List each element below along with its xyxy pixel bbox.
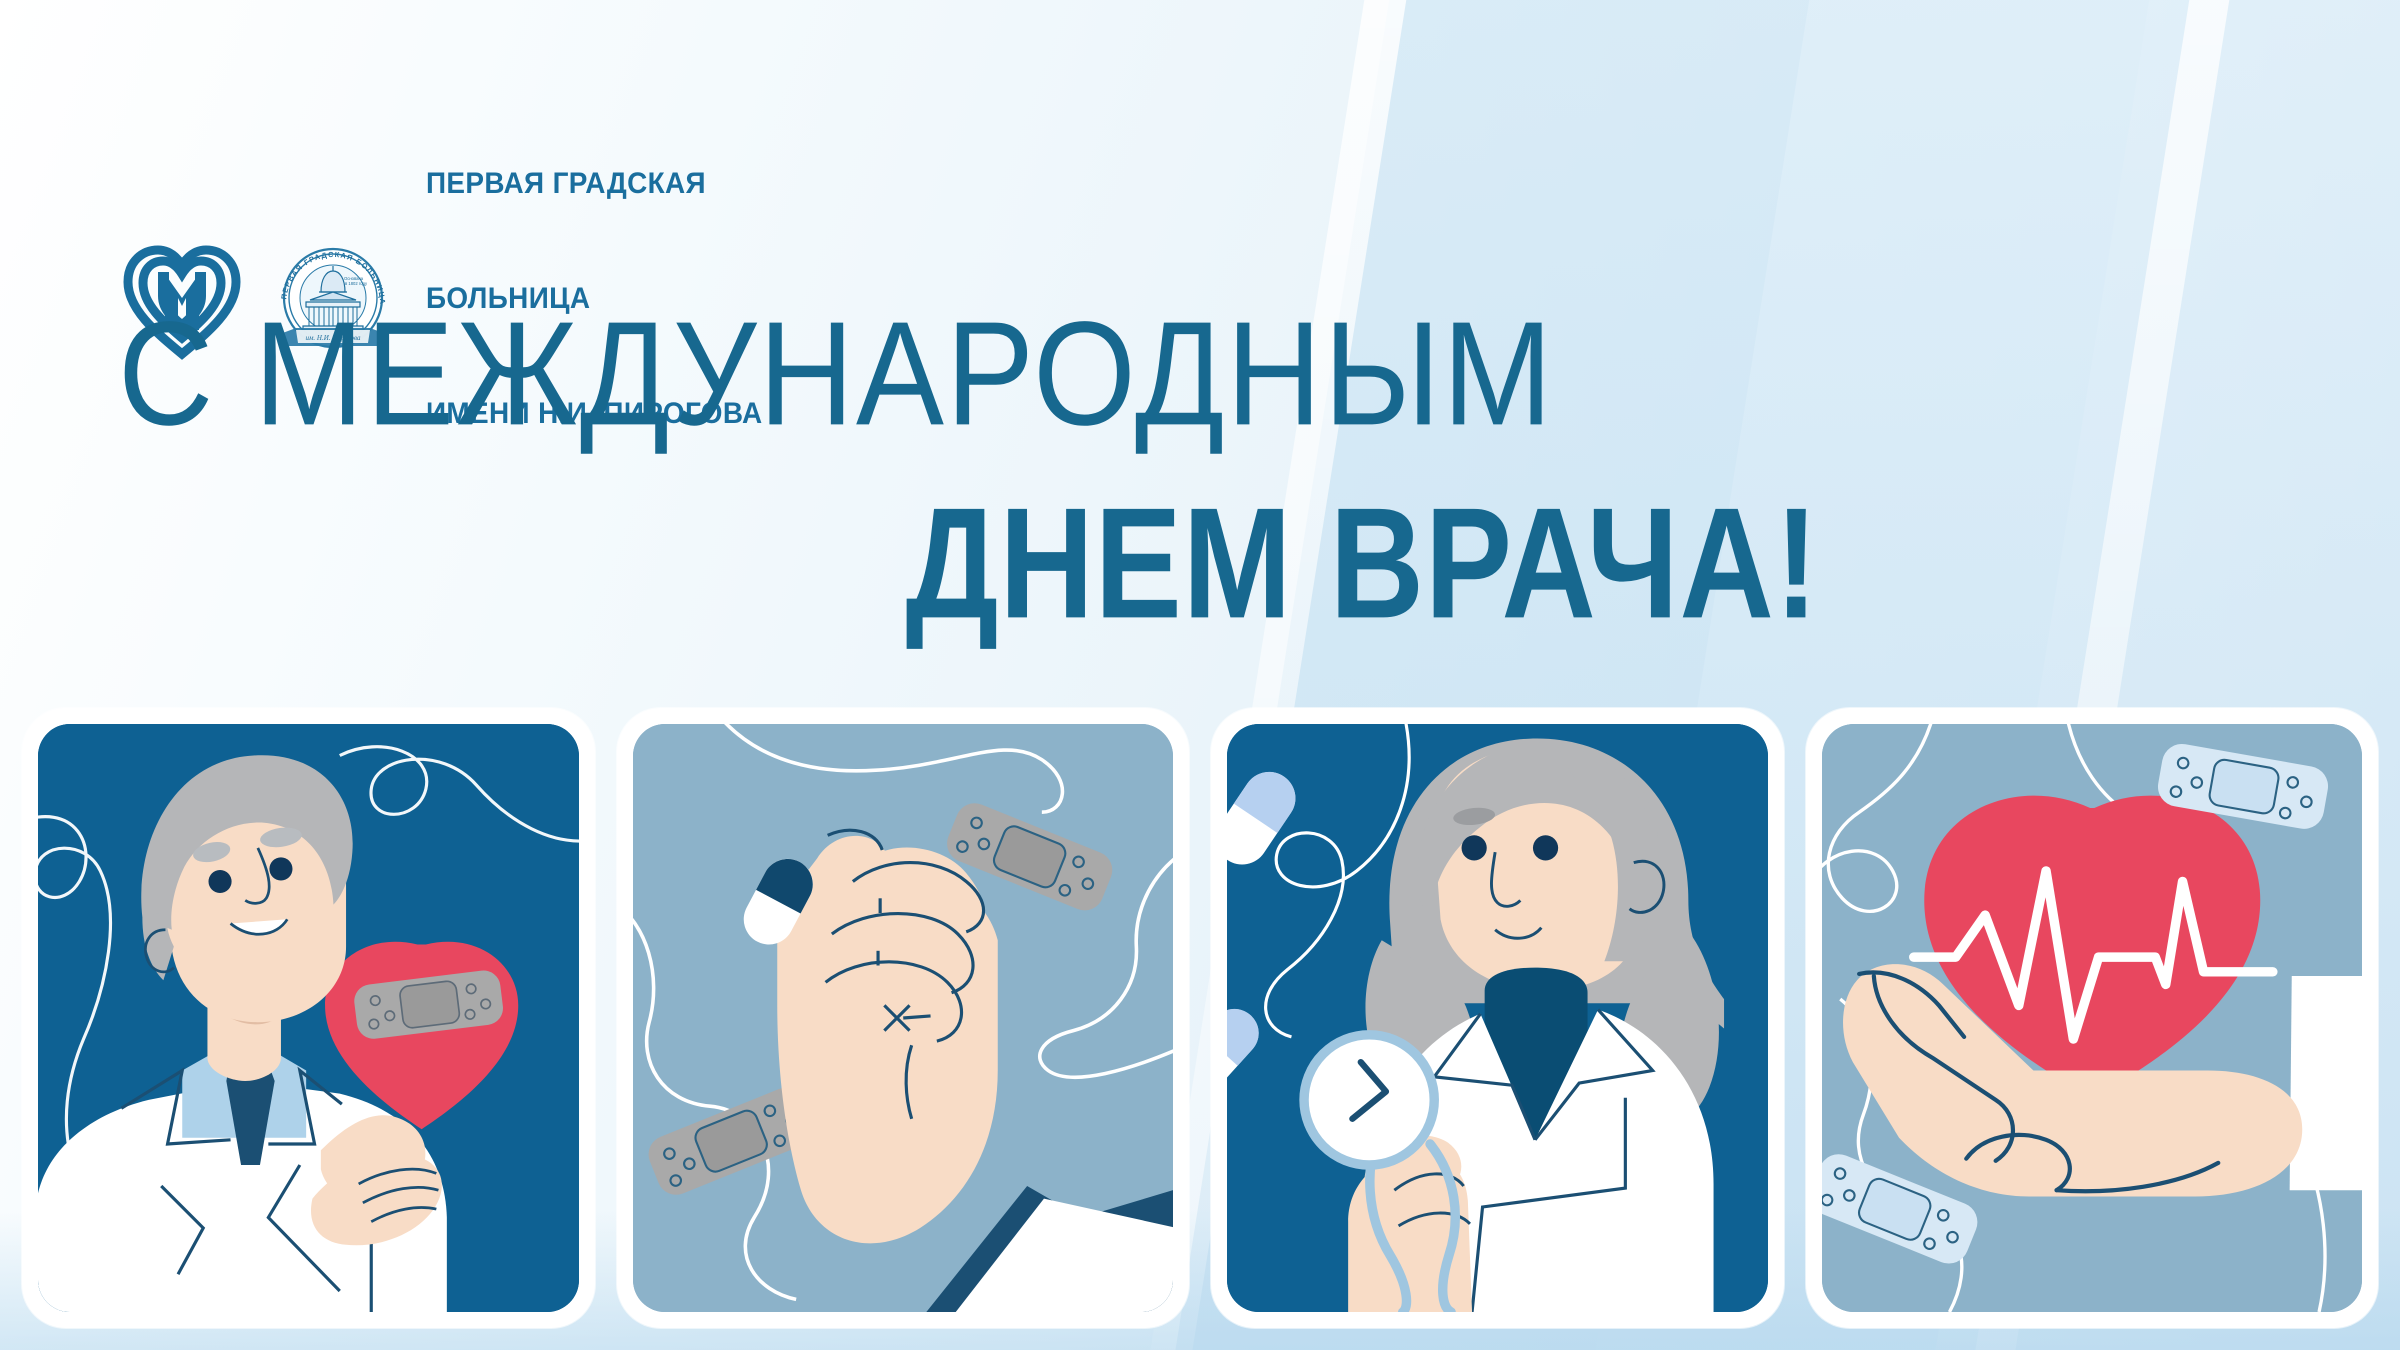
eye-right bbox=[269, 857, 292, 880]
illustration-panel-row bbox=[0, 708, 2400, 1328]
panel-hand-with-pill bbox=[617, 708, 1190, 1328]
headline-line-1: С МЕЖДУНАРОДНЫМ bbox=[0, 300, 2400, 448]
panel-male-doctor-with-heart bbox=[22, 708, 595, 1328]
panel-female-doctor-with-stethoscope bbox=[1211, 708, 1784, 1328]
panel-4-canvas bbox=[1822, 724, 2363, 1312]
panel-3-canvas bbox=[1227, 724, 1768, 1312]
stethoscope-chestpiece bbox=[1304, 1035, 1434, 1165]
headline-line-2: ДНЕМ ВРАЧА! bbox=[96, 484, 2400, 642]
panel-1-canvas bbox=[38, 724, 579, 1312]
panel-hand-holding-heart-ecg bbox=[1806, 708, 2379, 1328]
panel-2-canvas bbox=[633, 724, 1174, 1312]
org-line-1: ПЕРВАЯ ГРАДСКАЯ bbox=[426, 165, 763, 203]
poster-root: ПЕРВАЯ ГРАДСКАЯ БОЛЬНИЦА Основана в 1802… bbox=[0, 0, 2400, 1350]
svg-text:в 1802 году: в 1802 году bbox=[345, 281, 368, 286]
eye-left bbox=[209, 870, 232, 893]
eye-right bbox=[1533, 835, 1558, 860]
headline-block: С МЕЖДУНАРОДНЫМ ДНЕМ ВРАЧА! bbox=[0, 300, 2400, 620]
eye-left bbox=[1462, 835, 1487, 860]
